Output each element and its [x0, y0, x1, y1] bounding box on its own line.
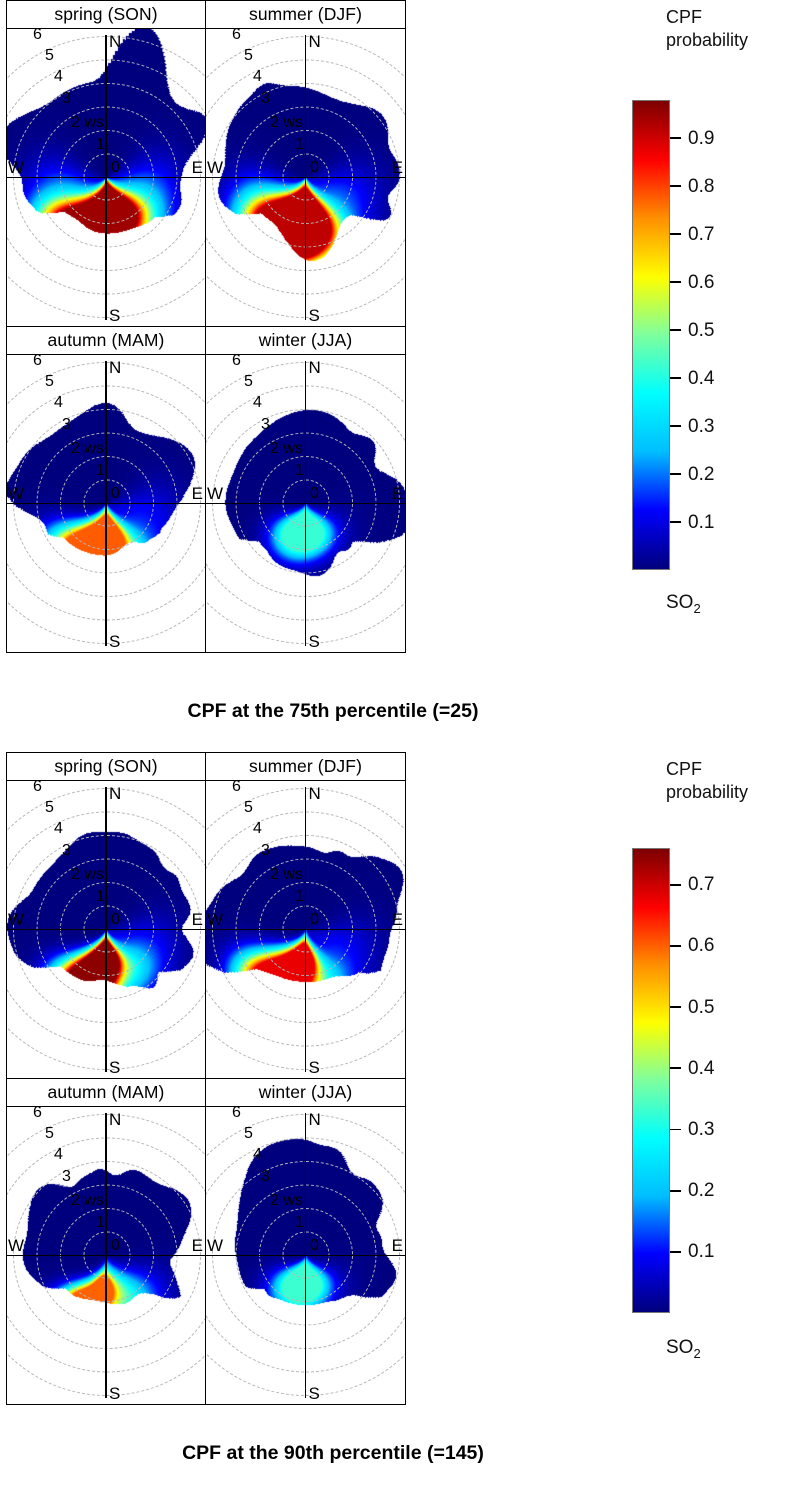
panel-autumn-90: autumn (MAM) NSWE012 ws3456 — [6, 1079, 206, 1405]
radial-label-0: 0 — [310, 160, 319, 176]
east-west-axis — [7, 503, 205, 505]
radial-label-4: 4 — [253, 395, 262, 411]
compass-label-n: N — [109, 785, 121, 802]
radial-label-5: 5 — [244, 374, 253, 390]
radial-label-6: 6 — [33, 355, 42, 369]
radial-label-4: 4 — [54, 69, 63, 85]
panel-autumn-75: autumn (MAM) NSWE012 ws3456 — [6, 327, 206, 653]
figure-caption-90th: CPF at the 90th percentile (=145) — [0, 1442, 666, 1465]
compass-label-w: W — [8, 159, 24, 176]
tick-mark — [670, 945, 681, 947]
radial-label-4: 4 — [54, 1147, 63, 1163]
radial-label-5: 5 — [45, 1126, 54, 1142]
east-west-axis — [206, 503, 405, 505]
tick-mark — [670, 1067, 681, 1069]
panel-title: winter (JJA) — [259, 330, 353, 351]
colorbar-75th: CPF probability 0.90.80.70.60.50.40.30.2… — [666, 0, 790, 750]
radial-label-1: 1 — [295, 1215, 304, 1231]
compass-label-e: E — [192, 159, 203, 176]
compass-label-s: S — [109, 307, 120, 324]
figure-caption-75th: CPF at the 75th percentile (=25) — [0, 700, 666, 723]
compass-label-n: N — [309, 359, 321, 376]
radial-label-5: 5 — [244, 800, 253, 816]
radial-label-3: 3 — [62, 417, 71, 433]
tick-label: 0.1 — [688, 1242, 714, 1261]
compass-label-e: E — [392, 1237, 403, 1254]
tick-mark — [670, 137, 681, 139]
tick-label: 0.9 — [688, 129, 714, 148]
radial-label-0: 0 — [111, 1238, 120, 1254]
radial-label-4: 4 — [253, 69, 262, 85]
compass-label-e: E — [392, 911, 403, 928]
radial-label-6: 6 — [232, 1107, 241, 1121]
panel-title: summer (DJF) — [249, 756, 362, 777]
radial-label-0: 0 — [111, 486, 120, 502]
tick-label: 0.2 — [688, 465, 714, 484]
polar-plot-winter-75: NSWE012 ws3456 — [206, 355, 405, 652]
radial-label-2: 2 ws — [270, 115, 303, 131]
radial-label-5: 5 — [45, 374, 54, 390]
east-west-axis — [7, 1255, 205, 1257]
radial-label-3: 3 — [261, 417, 270, 433]
tick-mark — [670, 233, 681, 235]
compass-label-n: N — [109, 1111, 121, 1128]
radial-label-0: 0 — [310, 486, 319, 502]
east-west-axis — [7, 177, 205, 179]
compass-label-n: N — [109, 33, 121, 50]
radial-label-3: 3 — [261, 91, 270, 107]
radial-label-5: 5 — [45, 48, 54, 64]
radial-label-6: 6 — [33, 781, 42, 795]
tick-mark — [670, 377, 681, 379]
east-west-axis — [206, 929, 405, 931]
tick-label: 0.3 — [688, 1120, 714, 1139]
radial-label-1: 1 — [96, 463, 105, 479]
radial-label-0: 0 — [111, 912, 120, 928]
figure-cpf-75th: spring (SON) NSWE012 ws3456 summer (DJF)… — [0, 0, 790, 750]
unit-text: SO — [666, 1337, 693, 1358]
panel-winter-90: winter (JJA) NSWE012 ws3456 — [206, 1079, 406, 1405]
panel-title-strip: summer (DJF) — [206, 753, 405, 781]
radial-label-4: 4 — [253, 821, 262, 837]
east-west-axis — [206, 1255, 405, 1257]
polar-plot-autumn-75: NSWE012 ws3456 — [7, 355, 205, 652]
colorbar-title-line2: probability — [666, 781, 748, 804]
panel-title-strip: spring (SON) — [7, 1, 205, 29]
tick-label: 0.3 — [688, 417, 714, 436]
tick-mark — [670, 185, 681, 187]
panel-title: summer (DJF) — [249, 4, 362, 25]
tick-label: 0.5 — [688, 998, 714, 1017]
tick-label: 0.2 — [688, 1181, 714, 1200]
east-west-axis — [7, 929, 205, 931]
compass-label-w: W — [207, 159, 223, 176]
colorbar-canvas — [633, 101, 669, 569]
radial-label-1: 1 — [295, 463, 304, 479]
radial-label-2: 2 ws — [270, 867, 303, 883]
colorbar-title-line1: CPF — [666, 758, 748, 781]
panel-title: autumn (MAM) — [48, 330, 165, 351]
tick-mark — [670, 473, 681, 475]
radial-label-1: 1 — [96, 889, 105, 905]
panel-title: autumn (MAM) — [48, 1082, 165, 1103]
compass-label-s: S — [309, 1385, 320, 1402]
colorbar-gradient — [632, 848, 670, 1313]
figure-cpf-90th: spring (SON) NSWE012 ws3456 summer (DJF)… — [0, 752, 790, 1495]
radial-label-2: 2 ws — [71, 1193, 104, 1209]
panel-spring-90: spring (SON) NSWE012 ws3456 — [6, 752, 206, 1079]
tick-label: 0.8 — [688, 177, 714, 196]
panel-title-strip: spring (SON) — [7, 753, 205, 781]
compass-label-n: N — [309, 1111, 321, 1128]
panel-title-strip: autumn (MAM) — [7, 1079, 205, 1107]
colorbar-ticks: 0.70.60.50.40.30.20.1 — [670, 848, 790, 1313]
radial-label-6: 6 — [232, 29, 241, 43]
panel-title: spring (SON) — [54, 756, 157, 777]
compass-label-w: W — [8, 911, 24, 928]
panel-summer-75: summer (DJF) NSWE012 ws3456 — [206, 0, 406, 327]
tick-label: 0.5 — [688, 321, 714, 340]
compass-label-e: E — [192, 485, 203, 502]
radial-label-2: 2 ws — [270, 1193, 303, 1209]
compass-label-w: W — [8, 1237, 24, 1254]
panel-winter-75: winter (JJA) NSWE012 ws3456 — [206, 327, 406, 653]
tick-mark — [670, 329, 681, 331]
polar-plot-spring-75: NSWE012 ws3456 — [7, 29, 205, 326]
colorbar-unit: SO2 — [666, 1337, 701, 1361]
radial-label-6: 6 — [33, 29, 42, 43]
radial-label-1: 1 — [295, 889, 304, 905]
tick-mark — [670, 1190, 681, 1192]
compass-label-s: S — [109, 633, 120, 650]
radial-label-6: 6 — [232, 781, 241, 795]
tick-mark — [670, 425, 681, 427]
radial-label-3: 3 — [62, 91, 71, 107]
compass-label-e: E — [192, 911, 203, 928]
colorbar-canvas — [633, 849, 669, 1312]
colorbar-unit: SO2 — [666, 592, 701, 616]
tick-mark — [670, 281, 681, 283]
compass-label-e: E — [192, 1237, 203, 1254]
radial-label-3: 3 — [261, 1169, 270, 1185]
panel-grid-90th: spring (SON) NSWE012 ws3456 summer (DJF)… — [6, 752, 406, 1405]
radial-label-3: 3 — [261, 843, 270, 859]
radial-label-2: 2 ws — [71, 115, 104, 131]
compass-label-w: W — [207, 485, 223, 502]
polar-plot-summer-90: NSWE012 ws3456 — [206, 781, 405, 1078]
radial-label-2: 2 ws — [270, 441, 303, 457]
east-west-axis — [206, 177, 405, 179]
panel-title-strip: winter (JJA) — [206, 327, 405, 355]
panel-spring-75: spring (SON) NSWE012 ws3456 — [6, 0, 206, 327]
radial-label-6: 6 — [33, 1107, 42, 1121]
unit-subscript: 2 — [693, 601, 700, 616]
radial-label-2: 2 ws — [71, 441, 104, 457]
tick-mark — [670, 521, 681, 523]
compass-label-w: W — [8, 485, 24, 502]
colorbar-90th: CPF probability 0.70.60.50.40.30.20.1 SO… — [666, 752, 790, 1495]
radial-label-1: 1 — [295, 137, 304, 153]
radial-label-2: 2 ws — [71, 867, 104, 883]
compass-label-s: S — [309, 307, 320, 324]
compass-label-s: S — [309, 1059, 320, 1076]
polar-plot-winter-90: NSWE012 ws3456 — [206, 1107, 405, 1404]
tick-mark — [670, 884, 681, 886]
panel-grid-75th: spring (SON) NSWE012 ws3456 summer (DJF)… — [6, 0, 406, 653]
radial-label-3: 3 — [62, 1169, 71, 1185]
panel-title: spring (SON) — [54, 4, 157, 25]
compass-label-n: N — [109, 359, 121, 376]
tick-mark — [670, 1006, 681, 1008]
compass-label-n: N — [309, 33, 321, 50]
radial-label-4: 4 — [253, 1147, 262, 1163]
compass-label-s: S — [109, 1059, 120, 1076]
radial-label-0: 0 — [310, 912, 319, 928]
panel-summer-90: summer (DJF) NSWE012 ws3456 — [206, 752, 406, 1079]
polar-plot-summer-75: NSWE012 ws3456 — [206, 29, 405, 326]
colorbar-ticks: 0.90.80.70.60.50.40.30.20.1 — [670, 100, 790, 570]
panel-title-strip: winter (JJA) — [206, 1079, 405, 1107]
unit-text: SO — [666, 592, 693, 613]
tick-mark — [670, 1251, 681, 1253]
radial-label-4: 4 — [54, 821, 63, 837]
compass-label-e: E — [392, 485, 403, 502]
tick-label: 0.1 — [688, 513, 714, 532]
radial-label-5: 5 — [244, 1126, 253, 1142]
compass-label-n: N — [309, 785, 321, 802]
tick-mark — [670, 1129, 681, 1131]
radial-label-1: 1 — [96, 137, 105, 153]
radial-label-0: 0 — [310, 1238, 319, 1254]
radial-label-1: 1 — [96, 1215, 105, 1231]
radial-label-5: 5 — [244, 48, 253, 64]
compass-label-e: E — [392, 159, 403, 176]
radial-label-4: 4 — [54, 395, 63, 411]
colorbar-title-line1: CPF — [666, 6, 748, 29]
compass-label-w: W — [207, 1237, 223, 1254]
colorbar-title: CPF probability — [666, 6, 748, 51]
panel-title: winter (JJA) — [259, 1082, 353, 1103]
compass-label-s: S — [309, 633, 320, 650]
radial-label-5: 5 — [45, 800, 54, 816]
tick-label: 0.6 — [688, 273, 714, 292]
tick-label: 0.6 — [688, 936, 714, 955]
compass-label-s: S — [109, 1385, 120, 1402]
colorbar-gradient — [632, 100, 670, 570]
panel-title-strip: autumn (MAM) — [7, 327, 205, 355]
tick-label: 0.4 — [688, 369, 714, 388]
tick-label: 0.4 — [688, 1059, 714, 1078]
unit-subscript: 2 — [693, 1346, 700, 1361]
compass-label-w: W — [207, 911, 223, 928]
tick-label: 0.7 — [688, 225, 714, 244]
radial-label-6: 6 — [232, 355, 241, 369]
panel-title-strip: summer (DJF) — [206, 1, 405, 29]
polar-plot-spring-90: NSWE012 ws3456 — [7, 781, 205, 1078]
polar-plot-autumn-90: NSWE012 ws3456 — [7, 1107, 205, 1404]
colorbar-title: CPF probability — [666, 758, 748, 803]
radial-label-3: 3 — [62, 843, 71, 859]
colorbar-title-line2: probability — [666, 29, 748, 52]
radial-label-0: 0 — [111, 160, 120, 176]
tick-label: 0.7 — [688, 875, 714, 894]
